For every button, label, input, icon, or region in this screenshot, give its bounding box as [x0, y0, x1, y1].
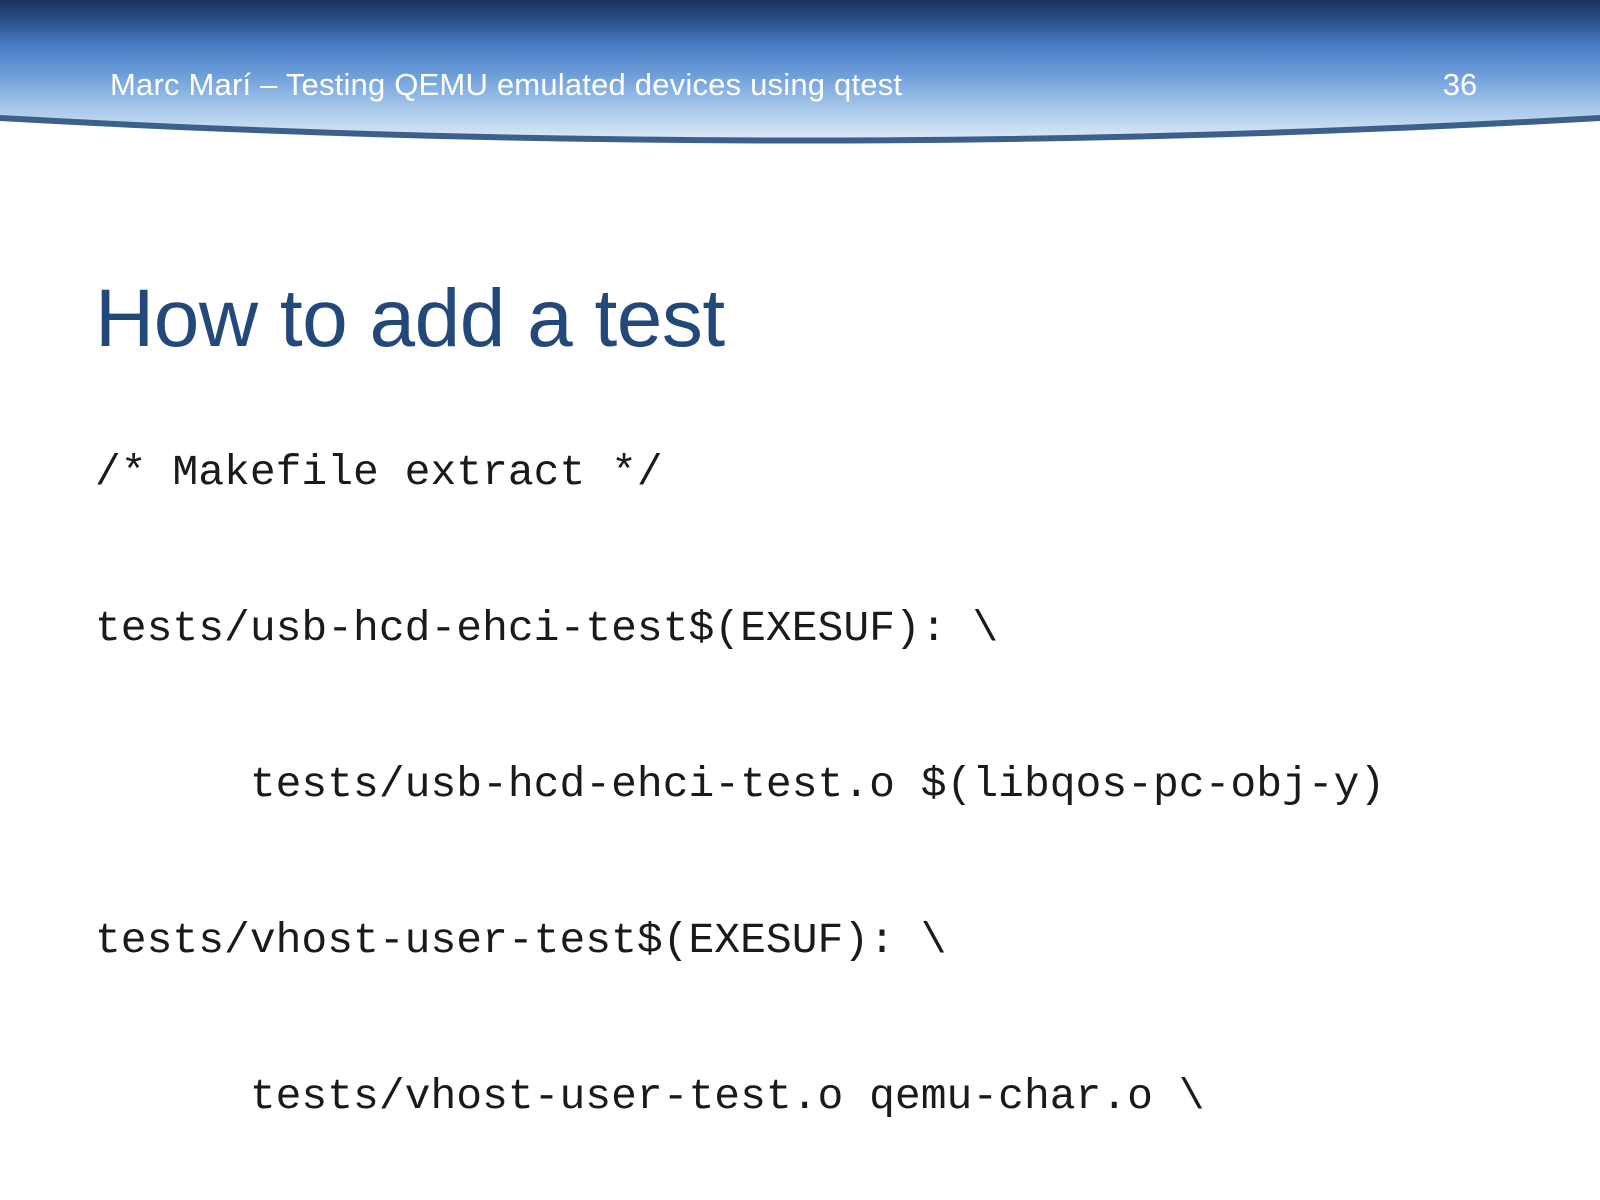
makefile-code-block: /* Makefile extract */ tests/usb-hcd-ehc…: [95, 343, 1555, 1200]
code-line: /* Makefile extract */: [95, 447, 1555, 499]
code-line: tests/vhost-user-test.o qemu-char.o \: [95, 1071, 1555, 1123]
slide: Marc Marí – Testing QEMU emulated device…: [0, 0, 1600, 1200]
code-line: tests/vhost-user-test$(EXESUF): \: [95, 915, 1555, 967]
presentation-header-title: Marc Marí – Testing QEMU emulated device…: [110, 66, 902, 104]
header-banner: Marc Marí – Testing QEMU emulated device…: [0, 0, 1600, 160]
code-line: tests/usb-hcd-ehci-test.o $(libqos-pc-ob…: [95, 759, 1555, 811]
code-line: tests/usb-hcd-ehci-test$(EXESUF): \: [95, 603, 1555, 655]
slide-page-number: 36: [1420, 66, 1500, 104]
